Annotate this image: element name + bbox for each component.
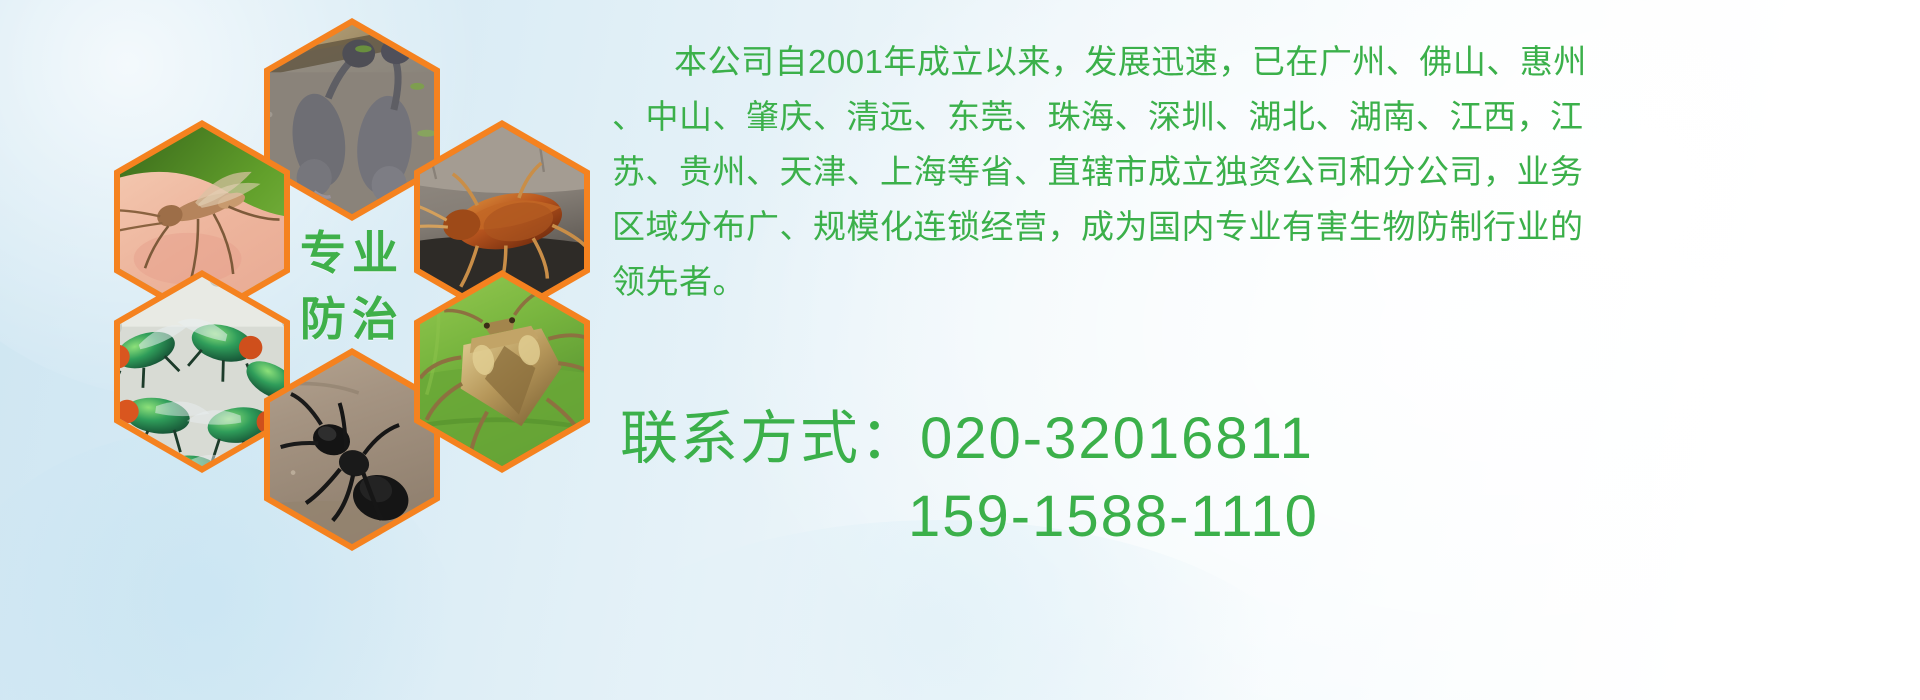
hex-logo-inner: 专业 防治: [264, 184, 440, 387]
logo-line-1: 专业: [300, 230, 404, 276]
company-description: 本公司自2001年成立以来，发展迅速，已在广州、佛山、惠州 、中山、肇庆、清远、…: [612, 34, 1912, 309]
description-line-3: 苏、贵州、天津、上海等省、直辖市成立独资公司和分公司，业务: [612, 144, 1912, 199]
logo-text: 专业 防治: [264, 184, 440, 387]
hex-photo-flies-inner: [120, 277, 284, 466]
stink-bug-photo: [420, 277, 584, 466]
description-line-5: 领先者。: [612, 254, 1912, 309]
hex-photo-flies[interactable]: [114, 270, 290, 473]
hex-photo-stinkbug-inner: [420, 277, 584, 466]
honeycomb-gallery: 专业 防治: [96, 0, 596, 576]
description-line-2: 、中山、肇庆、清远、东莞、珠海、深圳、湖北、湖南、江西，江: [612, 89, 1912, 144]
description-line-1: 本公司自2001年成立以来，发展迅速，已在广州、佛山、惠州: [612, 34, 1912, 89]
contact-phone-primary[interactable]: 联系方式：020-32016811: [620, 400, 1920, 478]
contact-block: 联系方式：020-32016811 159-1588-1110: [620, 400, 1920, 556]
contact-phone-secondary[interactable]: 159-1588-1110: [620, 478, 1920, 556]
flies-photo: [120, 277, 284, 466]
description-line-4: 区域分布广、规模化连锁经营，成为国内专业有害生物防制行业的: [612, 199, 1912, 254]
promo-banner: 专业 防治 本公司自2001年成立以来，发展迅速，已在广州、佛山、惠州 、中山、…: [0, 0, 1920, 700]
hex-logo-center: 专业 防治: [264, 184, 440, 387]
hex-photo-stinkbug[interactable]: [414, 270, 590, 473]
logo-line-2: 防治: [300, 296, 404, 342]
